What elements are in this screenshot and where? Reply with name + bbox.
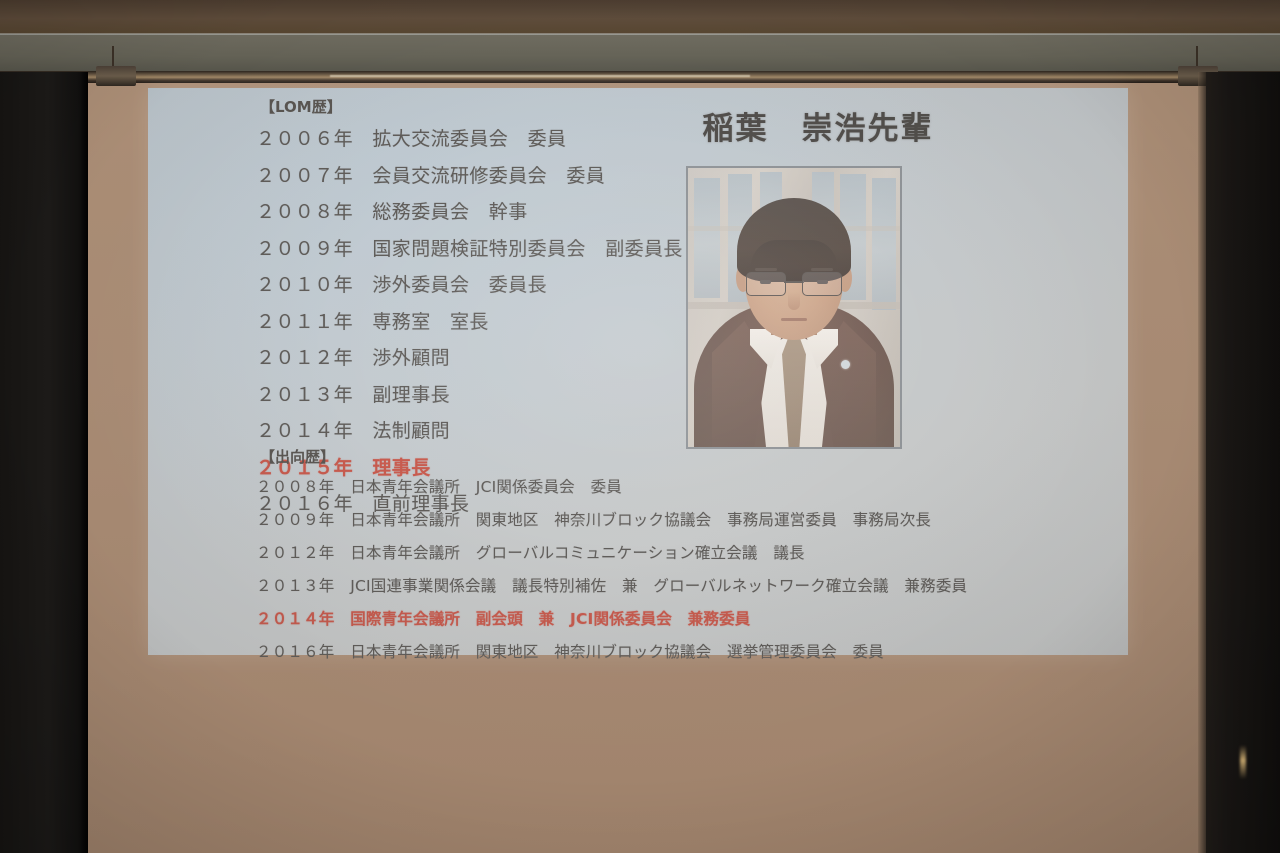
slide-canvas: 稲葉 崇浩先輩 — [148, 88, 1128, 655]
lom-history-heading: 【LOM歴】 — [260, 96, 683, 117]
screen-hanger-wire-left — [112, 46, 114, 68]
secondment-history-entry-3: ２０１３年 JCI国連事業関係会議 議長特別補佐 兼 グローバルネットワーク確立… — [256, 574, 967, 596]
secondment-history-entry-1: ２００９年 日本青年会議所 関東地区 神奈川ブロック協議会 事務局運営委員 事務… — [256, 508, 967, 530]
lom-history-entry-7: ２０１３年 副理事長 — [256, 380, 683, 407]
lom-history-entry-3: ２００９年 国家問題検証特別委員会 副委員長 — [256, 234, 683, 261]
stage-curtain-right — [1206, 72, 1280, 853]
screen-hanger-wire-right — [1196, 46, 1198, 68]
eyeglass-lens-left — [746, 272, 786, 296]
secondment-history-entry-0: ２００８年 日本青年会議所 JCI関係委員会 委員 — [256, 475, 967, 497]
projection-screen: 稲葉 崇浩先輩 — [148, 88, 1128, 655]
subject-mouth — [781, 318, 807, 321]
secondment-history-entry-5: ２０１６年 日本青年会議所 関東地区 神奈川ブロック協議会 選挙管理委員会 委員 — [256, 640, 967, 662]
ceiling-soffit — [0, 34, 1280, 72]
lom-history-entry-8: ２０１４年 法制顧問 — [256, 416, 683, 443]
eyeglass-bridge — [784, 281, 804, 283]
building-window — [872, 178, 896, 310]
secondment-history-entry-4: ２０１４年 国際青年会議所 副会頭 兼 JCI関係委員会 兼務委員 — [256, 607, 967, 629]
lom-history-entry-2: ２００８年 総務委員会 幹事 — [256, 197, 683, 224]
lom-history-entry-1: ２００７年 会員交流研修委員会 委員 — [256, 161, 683, 188]
soffit-highlight-line — [0, 33, 1280, 35]
lom-history-entry-4: ２０１０年 渉外委員会 委員長 — [256, 270, 683, 297]
lom-history-entry-6: ２０１２年 渉外顧問 — [256, 343, 683, 370]
page-title: 稲葉 崇浩先輩 — [653, 103, 983, 148]
portrait-photo — [686, 166, 902, 449]
projected-presentation-photo: 稲葉 崇浩先輩 — [0, 0, 1280, 853]
stage-curtain-left — [0, 72, 88, 853]
subject-eyebrow-left — [755, 268, 777, 271]
secondment-history-entry-2: ２０１２年 日本青年会議所 グローバルコミュニケーション確立会議 議長 — [256, 541, 967, 563]
lom-history-entry-5: ２０１１年 専務室 室長 — [256, 307, 683, 334]
screen-mount-clip-left — [96, 66, 136, 86]
curtain-rail-highlight — [330, 75, 750, 77]
subject-eyebrow-right — [811, 268, 833, 271]
eyeglass-lens-right — [802, 272, 842, 296]
curtain-gap-light-sliver — [1240, 745, 1246, 779]
building-window — [694, 178, 720, 298]
lom-history-entry-0: ２００６年 拡大交流委員会 委員 — [256, 124, 683, 151]
secondment-history-list: ２００８年 日本青年会議所 JCI関係委員会 委員２００９年 日本青年会議所 関… — [256, 475, 967, 662]
secondment-history-heading: 【出向歴】 — [260, 446, 967, 467]
subject-nose — [788, 292, 800, 310]
ceiling-beam — [0, 0, 1280, 34]
secondment-history-block: 【出向歴】 ２００８年 日本青年会議所 JCI関係委員会 委員２００９年 日本青… — [256, 446, 967, 673]
curtain-rail — [0, 71, 1280, 83]
subject-lapel-pin — [841, 360, 850, 369]
